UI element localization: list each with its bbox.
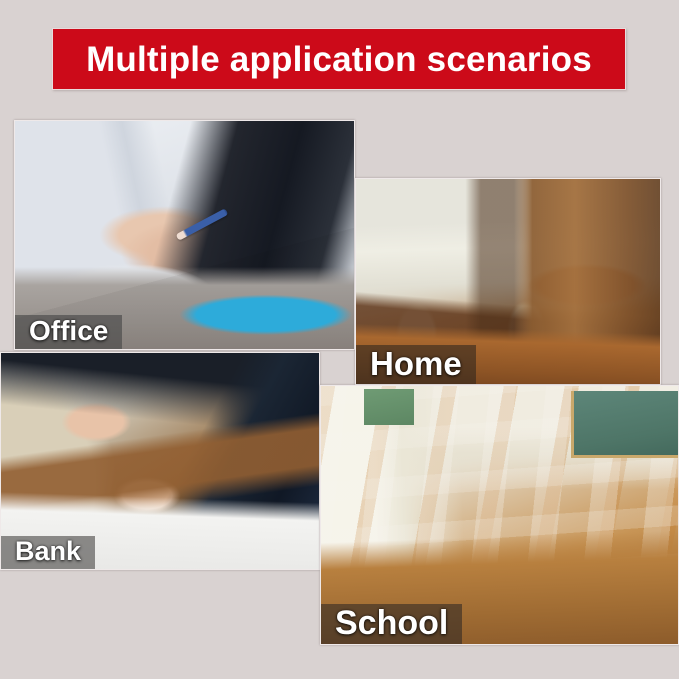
- home-label-band: Home: [356, 345, 476, 384]
- scenario-label-bank: Bank: [15, 538, 81, 565]
- school-label-band: School: [321, 604, 462, 644]
- bank-label-band: Bank: [1, 536, 95, 569]
- scenario-tile-school[interactable]: School: [320, 385, 679, 645]
- pen-icon: [176, 209, 229, 241]
- scenario-tile-bank[interactable]: Bank: [0, 352, 320, 570]
- scenario-label-office: Office: [29, 317, 108, 345]
- chalkboard-icon: [571, 391, 678, 458]
- scenario-collage-page: Multiple application scenarios Office Ho…: [0, 0, 679, 679]
- title-banner: Multiple application scenarios: [52, 28, 626, 90]
- chalkboard-secondary-icon: [364, 389, 414, 425]
- scenario-tile-home[interactable]: Home: [355, 178, 661, 385]
- page-title: Multiple application scenarios: [86, 42, 592, 77]
- scenario-tile-office[interactable]: Office: [14, 120, 355, 350]
- scenario-label-home: Home: [370, 347, 462, 380]
- office-label-band: Office: [15, 315, 122, 349]
- scenario-label-school: School: [335, 606, 448, 640]
